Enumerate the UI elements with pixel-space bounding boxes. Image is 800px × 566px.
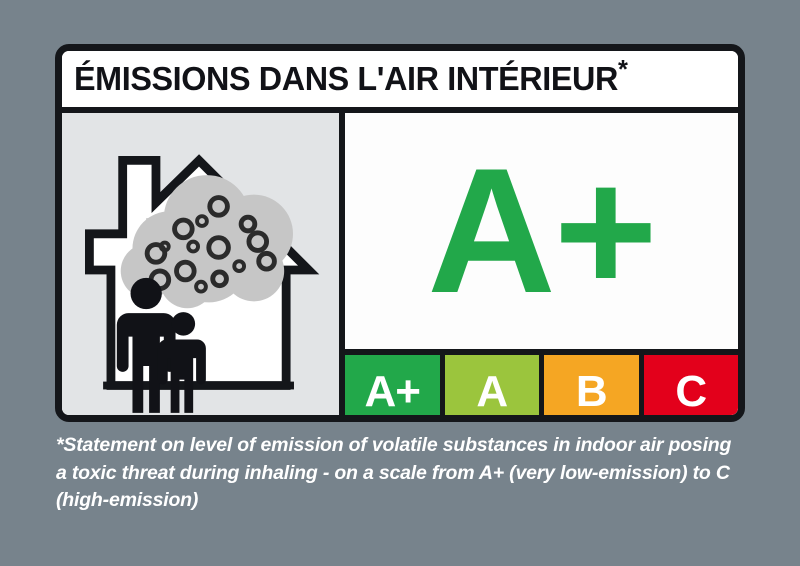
scale-label-b: B bbox=[576, 370, 607, 414]
emission-scale: A+ A B C bbox=[345, 355, 738, 422]
house-indoor-air-pollution-icon bbox=[62, 113, 339, 422]
page-title: ÉMISSIONS DANS L'AIR INTÉRIEUR* bbox=[74, 60, 627, 98]
pictogram-panel bbox=[62, 113, 345, 422]
current-grade-value: A+ bbox=[427, 158, 656, 304]
scale-cell-b: B bbox=[544, 355, 644, 422]
title-main-text: ÉMISSIONS DANS L'AIR INTÉRIEUR bbox=[74, 60, 618, 97]
footnote-text: *Statement on level of emission of volat… bbox=[56, 432, 736, 515]
grade-display: A+ bbox=[345, 113, 738, 355]
label-body: A+ A+ A B C bbox=[62, 113, 738, 422]
scale-cell-c: C bbox=[644, 355, 739, 422]
title-footnote-marker: * bbox=[618, 54, 628, 84]
scale-cell-a: A bbox=[445, 355, 545, 422]
scale-label-a: A bbox=[476, 370, 507, 414]
indoor-air-emissions-label: ÉMISSIONS DANS L'AIR INTÉRIEUR* bbox=[55, 44, 745, 422]
scale-label-c: C bbox=[675, 370, 706, 414]
scale-cell-a-plus: A+ bbox=[345, 355, 445, 422]
rating-panel: A+ A+ A B C bbox=[345, 113, 738, 422]
scale-label-a-plus: A+ bbox=[365, 370, 420, 414]
label-title-bar: ÉMISSIONS DANS L'AIR INTÉRIEUR* bbox=[62, 51, 738, 113]
